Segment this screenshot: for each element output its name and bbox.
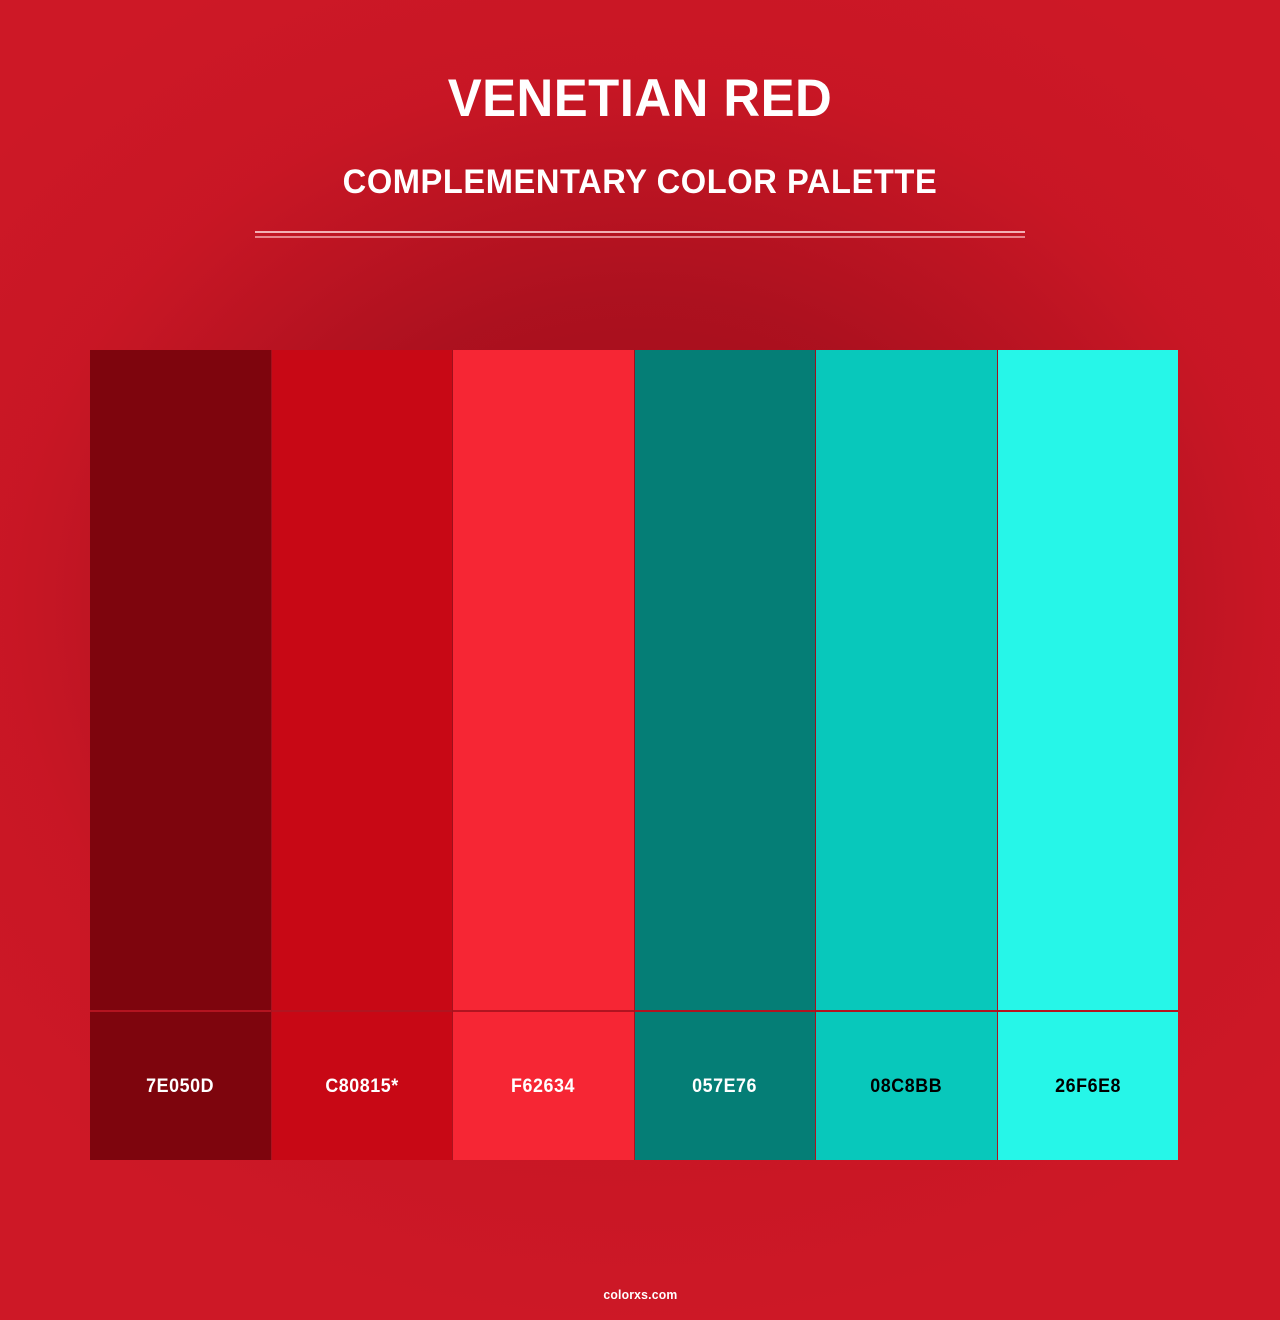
swatch-label-band-4: 057E76	[635, 1012, 816, 1160]
swatch-hex-label-6: 26F6E8	[1055, 1077, 1121, 1096]
swatch-column-5[interactable]: 08C8BB	[816, 350, 998, 1160]
swatch-color-3[interactable]	[453, 350, 634, 1010]
swatch-label-band-5: 08C8BB	[816, 1012, 997, 1160]
header: VENETIAN RED COMPLEMENTARY COLOR PALETTE	[0, 0, 1280, 350]
footer-brand-label: colorxs.com	[603, 1287, 677, 1302]
swatch-color-5[interactable]	[816, 350, 997, 1010]
swatch-color-2[interactable]	[272, 350, 453, 1010]
swatch-hex-label-1: 7E050D	[146, 1077, 214, 1096]
page-title: VENETIAN RED	[26, 72, 1255, 125]
footer: colorxs.com	[0, 1286, 1280, 1304]
swatch-column-3[interactable]: F62634	[453, 350, 635, 1160]
title-divider	[255, 231, 1025, 239]
page-subtitle: COMPLEMENTARY COLOR PALETTE	[26, 165, 1255, 199]
palette-page: VENETIAN RED COMPLEMENTARY COLOR PALETTE…	[0, 0, 1280, 1320]
swatch-hex-label-3: F62634	[511, 1077, 575, 1096]
divider-rule-top	[255, 231, 1025, 233]
swatch-column-6[interactable]: 26F6E8	[998, 350, 1179, 1160]
swatch-label-band-3: F62634	[453, 1012, 634, 1160]
swatch-color-4[interactable]	[635, 350, 816, 1010]
color-swatch-board: 7E050D C80815* F62634 057E76	[90, 350, 1178, 1160]
swatch-label-band-1: 7E050D	[90, 1012, 271, 1160]
swatch-label-band-6: 26F6E8	[998, 1012, 1179, 1160]
swatch-column-2[interactable]: C80815*	[272, 350, 454, 1160]
swatch-column-1[interactable]: 7E050D	[90, 350, 272, 1160]
swatch-hex-label-4: 057E76	[692, 1077, 757, 1096]
swatch-hex-label-2: C80815*	[325, 1077, 398, 1096]
swatch-color-6[interactable]	[998, 350, 1179, 1010]
swatch-color-1[interactable]	[90, 350, 271, 1010]
swatch-column-4[interactable]: 057E76	[635, 350, 817, 1160]
swatch-label-band-2: C80815*	[272, 1012, 453, 1160]
divider-rule-bottom	[255, 236, 1025, 238]
swatch-hex-label-5: 08C8BB	[870, 1077, 942, 1096]
